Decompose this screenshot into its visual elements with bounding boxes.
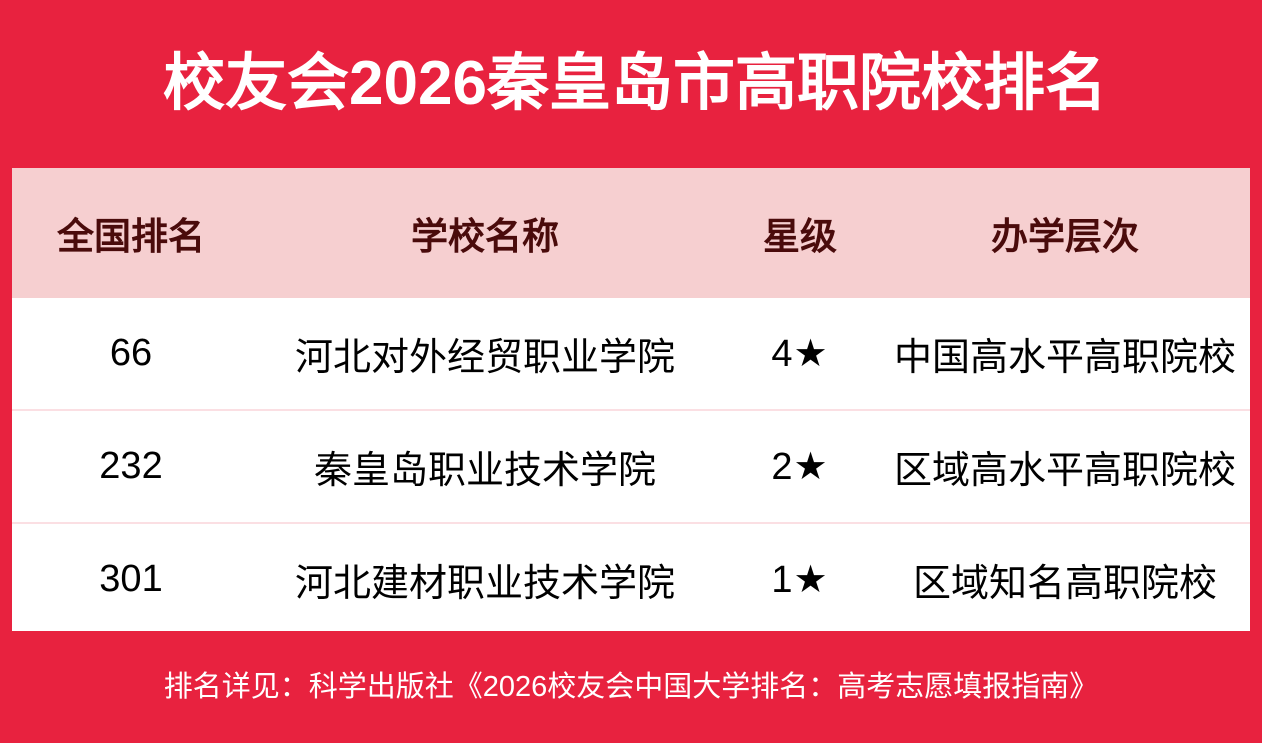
title-banner: 校友会2026秦皇岛市高职院校排名 <box>0 0 1262 168</box>
table-row: 232 秦皇岛职业技术学院 2★ 区域高水平高职院校 <box>12 410 1250 523</box>
cell-star: 2★ <box>720 410 880 523</box>
cell-star: 4★ <box>720 298 880 410</box>
table-row: 66 河北对外经贸职业学院 4★ 中国高水平高职院校 <box>12 298 1250 410</box>
table-row: 301 河北建材职业技术学院 1★ 区域知名高职院校 <box>12 523 1250 635</box>
cell-level: 区域知名高职院校 <box>880 523 1250 635</box>
cell-level: 区域高水平高职院校 <box>880 410 1250 523</box>
footer-note: 排名详见：科学出版社《2026校友会中国大学排名：高考志愿填报指南》 <box>164 673 1099 702</box>
page-title: 校友会2026秦皇岛市高职院校排名 <box>155 53 1107 115</box>
cell-name: 河北对外经贸职业学院 <box>250 298 720 410</box>
cell-star: 1★ <box>720 523 880 635</box>
cell-name: 河北建材职业技术学院 <box>250 523 720 635</box>
footer-banner: 排名详见：科学出版社《2026校友会中国大学排名：高考志愿填报指南》 <box>0 631 1262 743</box>
ranking-poster: 校友会2026秦皇岛市高职院校排名 全国排名 学校名称 星级 办学层次 66 <box>0 0 1262 743</box>
column-header-name: 学校名称 <box>250 168 720 298</box>
cell-rank: 232 <box>12 410 250 523</box>
ranking-table-panel: 全国排名 学校名称 星级 办学层次 66 河北对外经贸职业学院 4★ 中国高水平… <box>12 168 1250 631</box>
cell-level: 中国高水平高职院校 <box>880 298 1250 410</box>
column-header-rank: 全国排名 <box>12 168 250 298</box>
cell-name: 秦皇岛职业技术学院 <box>250 410 720 523</box>
column-header-level: 办学层次 <box>880 168 1250 298</box>
cell-rank: 66 <box>12 298 250 410</box>
table-body: 66 河北对外经贸职业学院 4★ 中国高水平高职院校 232 秦皇岛职业技术学院… <box>12 298 1250 635</box>
column-header-star: 星级 <box>720 168 880 298</box>
cell-rank: 301 <box>12 523 250 635</box>
table-header-row: 全国排名 学校名称 星级 办学层次 <box>12 168 1250 298</box>
ranking-table: 全国排名 学校名称 星级 办学层次 66 河北对外经贸职业学院 4★ 中国高水平… <box>12 168 1250 635</box>
table-header: 全国排名 学校名称 星级 办学层次 <box>12 168 1250 298</box>
